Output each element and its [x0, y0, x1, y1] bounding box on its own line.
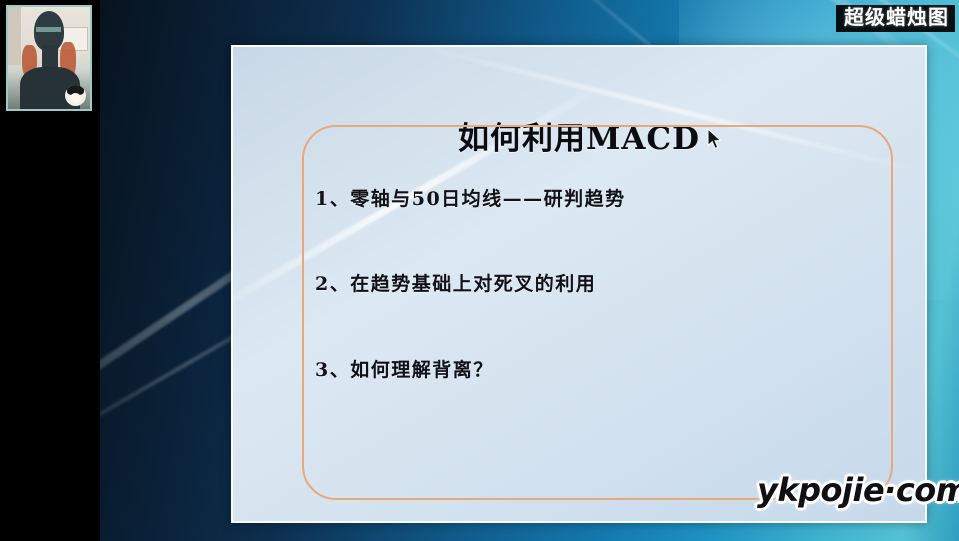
avatar-face	[70, 93, 81, 103]
avatar[interactable]	[65, 85, 86, 106]
presenter-webcam-thumbnail[interactable]	[6, 5, 92, 111]
webcam-background-door	[8, 7, 21, 65]
site-watermark: ykpojie·com	[757, 471, 959, 509]
screen-share-window: 如何利用MACD 1、零轴与50日均线——研判趋势 2、在趋势基础上对死叉的利用…	[0, 0, 959, 541]
program-title-badge: 超级蜡烛图	[836, 5, 955, 32]
slide-bullet-1: 1、零轴与50日均线——研判趋势	[233, 184, 927, 211]
slide-bullet-3: 3、如何理解背离？	[233, 355, 927, 382]
presentation-slide: 如何利用MACD 1、零轴与50日均线——研判趋势 2、在趋势基础上对死叉的利用…	[231, 45, 927, 523]
webcam-person-glasses	[36, 27, 61, 32]
slide-content-outline-box	[302, 125, 893, 500]
screen-share-area: 如何利用MACD 1、零轴与50日均线——研判趋势 2、在趋势基础上对死叉的利用…	[100, 0, 959, 541]
slide-bullet-2: 2、在趋势基础上对死叉的利用	[233, 269, 927, 296]
